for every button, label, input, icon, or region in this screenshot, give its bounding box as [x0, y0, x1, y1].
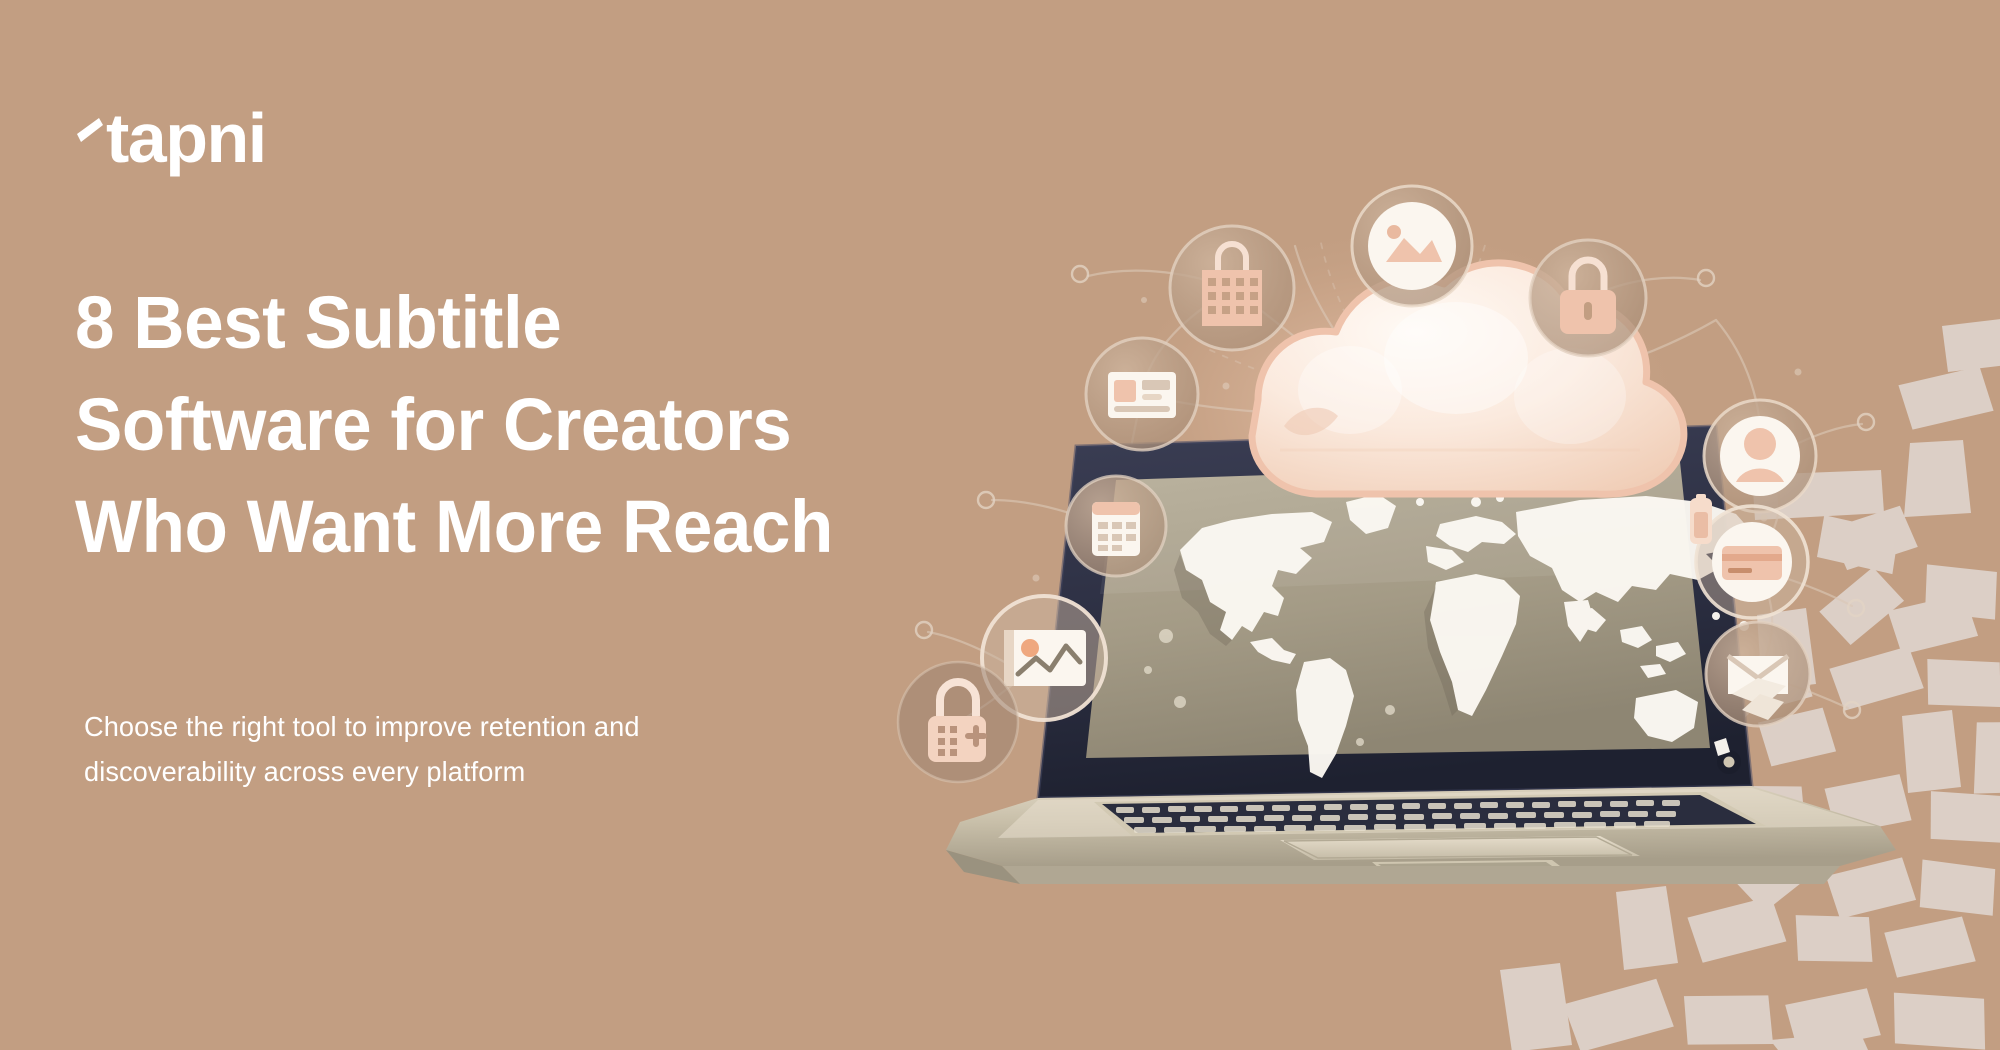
logo-tick-icon	[72, 98, 106, 168]
padlock-icon	[1530, 240, 1646, 356]
tapni-logo[interactable]: tapni	[72, 98, 266, 168]
headline-line-2: Software for Creators	[75, 374, 939, 476]
lock-secure-icon	[898, 662, 1018, 782]
logo-wordmark: tapni	[106, 108, 266, 168]
headline-line-1: 8 Best Subtitle	[75, 272, 939, 374]
cloud-laptop-illustration	[880, 150, 2000, 950]
page-title: 8 Best Subtitle Software for Creators Wh…	[75, 272, 975, 578]
headline-line-3: Who Want More Reach	[75, 476, 939, 578]
subtitle-line-1: Choose the right tool to improve retenti…	[84, 704, 821, 749]
page-subtitle: Choose the right tool to improve retenti…	[84, 704, 844, 794]
shopping-bag-icon	[1170, 226, 1294, 350]
avatar-person-icon	[1704, 400, 1816, 512]
calendar-icon	[1066, 476, 1166, 576]
photo-image-icon	[1352, 186, 1472, 306]
id-card-icon	[1086, 338, 1198, 450]
subtitle-line-2: discoverability across every platform	[84, 749, 821, 794]
hero-banner: tapni 8 Best Subtitle Software for Creat…	[0, 0, 2000, 1050]
credit-card-icon	[1696, 506, 1808, 618]
battery-icon	[1690, 494, 1712, 544]
envelope-mail-icon	[1706, 622, 1810, 726]
hero-illustration	[880, 150, 1440, 710]
